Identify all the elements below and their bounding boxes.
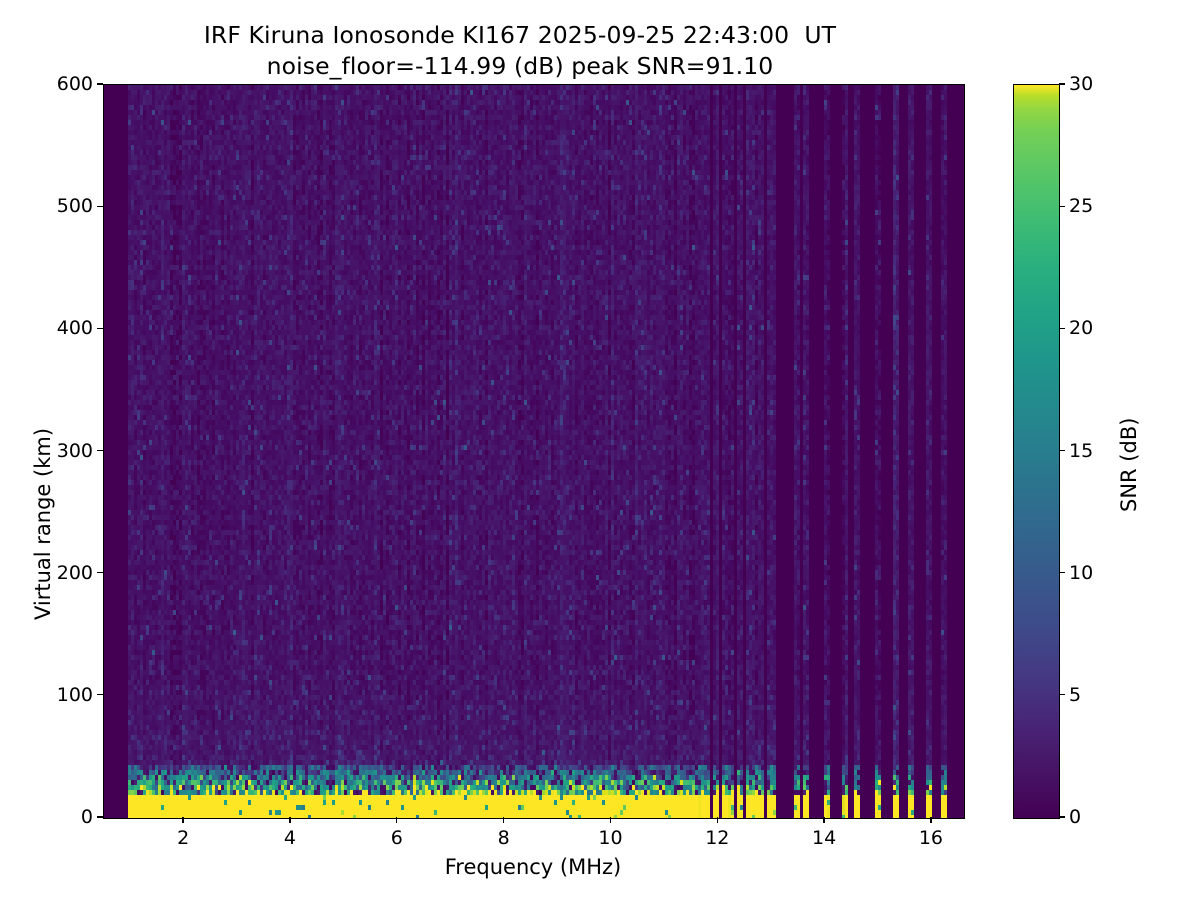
y-tick-mark [97, 450, 103, 451]
figure-title: IRF Kiruna Ionosonde KI167 2025-09-25 22… [0, 20, 1040, 81]
colorbar-tick-mark [1059, 328, 1065, 329]
x-axis-label: Frequency (MHz) [103, 855, 963, 879]
title-line-1: IRF Kiruna Ionosonde KI167 2025-09-25 22… [0, 20, 1040, 51]
colorbar-tick-label: 25 [1069, 195, 1093, 217]
y-tick-label: 500 [31, 195, 93, 217]
x-tick-mark [823, 817, 824, 823]
ionogram-figure: IRF Kiruna Ionosonde KI167 2025-09-25 22… [0, 0, 1200, 900]
ionogram-axes [103, 84, 965, 819]
ionogram-heatmap [104, 85, 964, 818]
y-tick-mark [97, 206, 103, 207]
colorbar [1013, 84, 1060, 819]
x-tick-label: 10 [598, 827, 622, 849]
y-tick-mark [97, 816, 103, 817]
colorbar-tick-label: 5 [1069, 684, 1081, 706]
x-tick-label: 14 [812, 827, 836, 849]
x-tick-mark [610, 817, 611, 823]
x-tick-label: 4 [284, 827, 296, 849]
y-tick-mark [97, 328, 103, 329]
y-tick-label: 600 [31, 73, 93, 95]
x-tick-label: 12 [705, 827, 729, 849]
colorbar-tick-label: 30 [1069, 73, 1093, 95]
y-tick-mark [97, 83, 103, 84]
x-tick-mark [182, 817, 183, 823]
colorbar-gradient [1014, 85, 1059, 818]
colorbar-label: SNR (dB) [1117, 418, 1141, 512]
colorbar-tick-label: 15 [1069, 440, 1093, 462]
colorbar-tick-mark [1059, 450, 1065, 451]
colorbar-tick-mark [1059, 83, 1065, 84]
x-tick-mark [930, 817, 931, 823]
colorbar-tick-mark [1059, 206, 1065, 207]
x-tick-label: 2 [177, 827, 189, 849]
y-tick-label: 0 [31, 806, 93, 828]
title-line-2: noise_floor=-114.99 (dB) peak SNR=91.10 [0, 51, 1040, 82]
colorbar-tick-label: 20 [1069, 317, 1093, 339]
colorbar-tick-label: 10 [1069, 562, 1093, 584]
colorbar-tick-mark [1059, 694, 1065, 695]
y-tick-mark [97, 694, 103, 695]
colorbar-tick-mark [1059, 572, 1065, 573]
y-axis-label: Virtual range (km) [31, 428, 55, 620]
x-tick-label: 6 [391, 827, 403, 849]
y-tick-label: 400 [31, 317, 93, 339]
x-tick-mark [717, 817, 718, 823]
x-tick-mark [289, 817, 290, 823]
x-tick-label: 16 [919, 827, 943, 849]
x-tick-label: 8 [498, 827, 510, 849]
colorbar-tick-mark [1059, 816, 1065, 817]
y-tick-label: 100 [31, 684, 93, 706]
y-tick-mark [97, 572, 103, 573]
x-tick-mark [396, 817, 397, 823]
x-tick-mark [503, 817, 504, 823]
colorbar-tick-label: 0 [1069, 806, 1081, 828]
